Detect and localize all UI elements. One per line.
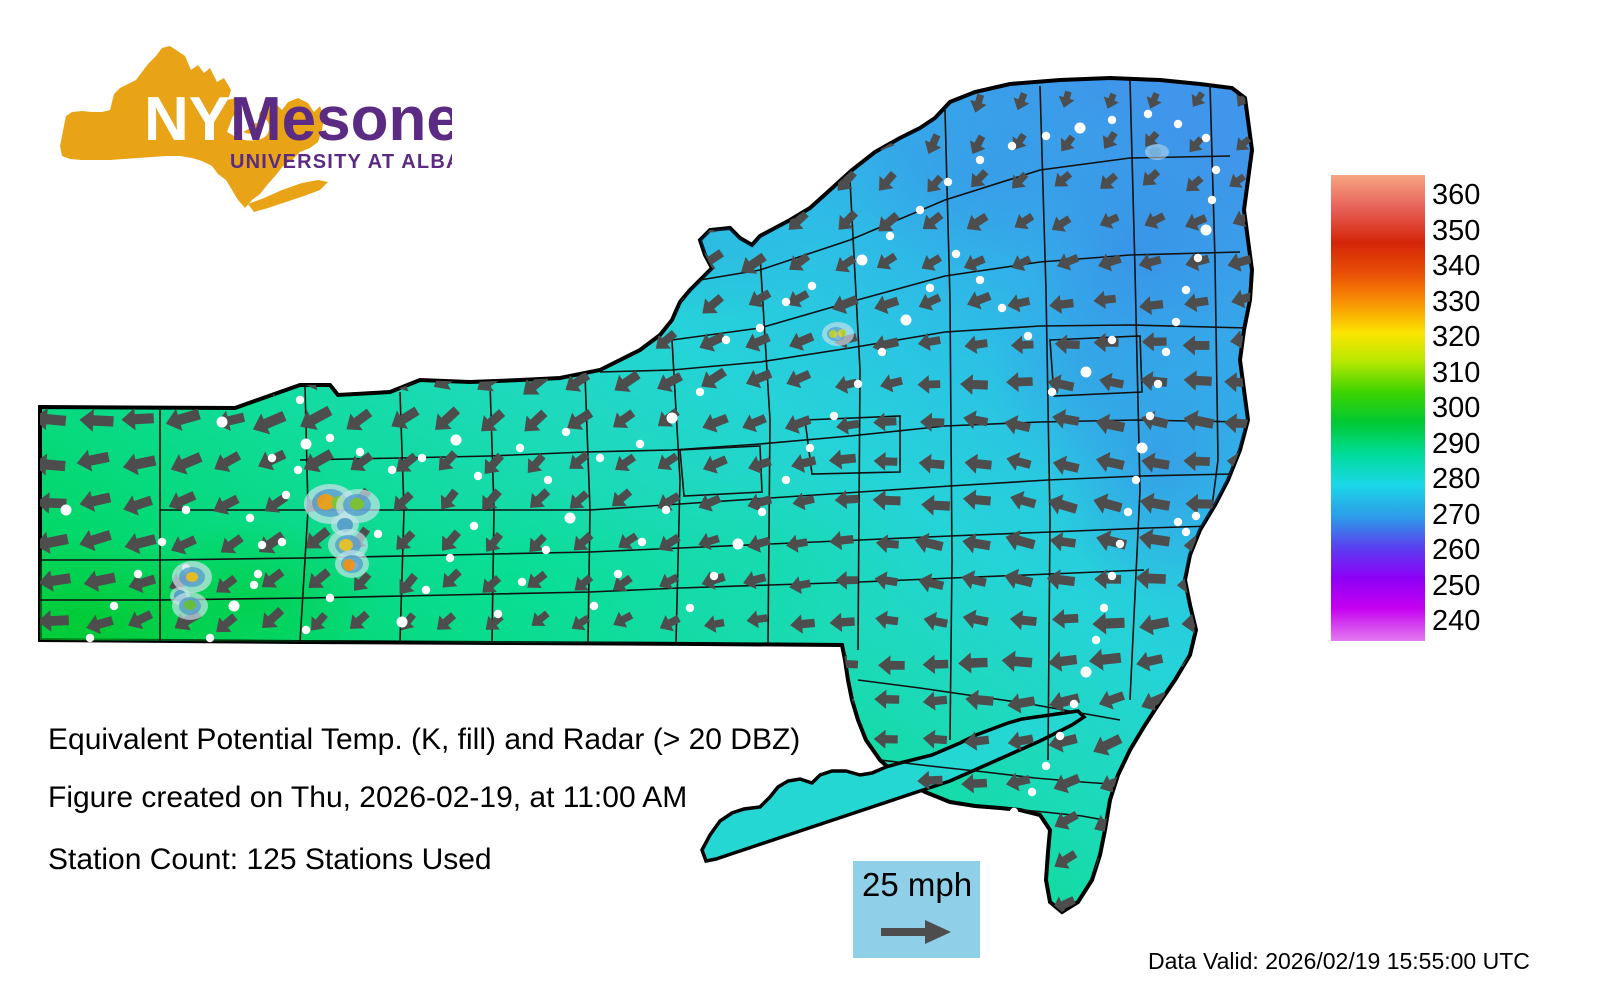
- wind-arrow: [657, 247, 684, 269]
- wind-arrow: [830, 895, 854, 914]
- colorbar-tick-330: 330: [1432, 288, 1480, 317]
- station-dot: [1048, 388, 1056, 396]
- wind-arrow: [1268, 609, 1299, 630]
- wind-arrow: [33, 207, 72, 231]
- wind-arrow: [297, 129, 332, 152]
- wind-arrow: [172, 135, 203, 158]
- wind-arrow: [1230, 727, 1257, 749]
- colorbar-tick-310: 310: [1432, 359, 1480, 388]
- wind-arrow: [165, 291, 205, 315]
- wind-arrow: [660, 892, 681, 909]
- wind-arrow: [1273, 809, 1292, 830]
- wind-arrow: [520, 211, 548, 232]
- station-dot: [470, 522, 478, 530]
- wind-arrow: [79, 168, 113, 190]
- wind-arrow: [76, 211, 113, 234]
- wind-arrow: [474, 135, 513, 159]
- station-dot: [158, 538, 166, 546]
- wind-arrow: [703, 130, 723, 152]
- wind-arrow: [129, 689, 157, 709]
- station-dot: [1286, 854, 1294, 862]
- wind-arrow: [37, 368, 74, 392]
- wind-arrow: [128, 208, 160, 231]
- station-dot: [182, 506, 190, 514]
- wind-arrow: [655, 850, 677, 868]
- wind-arrow: [519, 171, 551, 195]
- wind-arrow: [836, 128, 855, 152]
- wind-arrow: [79, 327, 117, 351]
- wind-arrow: [751, 169, 770, 191]
- station-dot: [1192, 512, 1200, 520]
- station-dot: [1118, 866, 1126, 874]
- wind-arrow: [787, 895, 812, 913]
- wind-arrow: [1277, 172, 1295, 187]
- station-dot: [1024, 332, 1032, 340]
- wind-arrow: [80, 248, 113, 269]
- wind-arrow: [212, 172, 249, 195]
- wind-arrow: [480, 253, 509, 273]
- wind-arrow: [520, 293, 550, 316]
- wind-arrow: [258, 895, 280, 913]
- station-dot: [857, 255, 868, 266]
- colorbar-tick-340: 340: [1432, 252, 1480, 281]
- wind-arrow: [34, 170, 71, 193]
- wind-arrow: [434, 93, 468, 115]
- wind-arrow: [438, 817, 458, 835]
- wind-arrow: [1222, 655, 1254, 676]
- wind-arrow: [85, 890, 111, 910]
- wind-arrow: [1095, 895, 1119, 914]
- station-dot: [1108, 336, 1116, 344]
- wind-arrow: [517, 88, 555, 112]
- wind-arrow: [1004, 851, 1031, 870]
- station-dot: [86, 634, 94, 642]
- station-dot: [326, 434, 334, 442]
- colorbar-tick-350: 350: [1432, 217, 1480, 246]
- station-dot: [516, 444, 524, 452]
- station-dot: [1146, 412, 1154, 420]
- wind-arrow: [571, 650, 591, 666]
- wind-arrow: [174, 896, 199, 915]
- wind-arrow: [745, 92, 763, 116]
- wind-arrow: [122, 126, 161, 151]
- station-dot: [1100, 604, 1108, 612]
- wind-arrow: [1188, 771, 1210, 790]
- station-dot: [1194, 254, 1202, 262]
- wind-arrow: [611, 292, 635, 312]
- wind-arrow: [173, 814, 197, 833]
- wind-arrow: [1187, 734, 1210, 754]
- wind-arrow: [1269, 454, 1302, 476]
- wind-arrow: [215, 87, 250, 112]
- station-dot: [1108, 572, 1116, 580]
- wind-arrow: [521, 251, 550, 272]
- station-dot: [562, 428, 570, 436]
- wind-arrow: [123, 329, 162, 353]
- wind-arrow: [257, 210, 290, 232]
- wind-arrow: [700, 92, 719, 115]
- station-dot: [973, 825, 984, 836]
- station-dot: [1162, 348, 1170, 356]
- station-dot: [782, 298, 790, 306]
- wind-arrow: [217, 694, 238, 710]
- station-dot: [1146, 858, 1154, 866]
- wind-arrow: [1144, 770, 1169, 789]
- wind-arrow: [658, 128, 680, 153]
- colorbar-tick-240: 240: [1432, 607, 1480, 636]
- wind-arrow: [612, 651, 632, 667]
- station-dot: [1208, 196, 1216, 204]
- station-dot: [1144, 110, 1152, 118]
- wind-arrow: [701, 654, 724, 672]
- wind-arrow: [252, 250, 286, 272]
- wind-arrow: [1277, 135, 1293, 150]
- wind-arrow: [748, 690, 772, 709]
- wind-arrow: [616, 87, 639, 111]
- station-dot: [356, 448, 364, 456]
- wind-arrow: [434, 254, 469, 276]
- station-dot: [326, 594, 334, 602]
- station-dot: [782, 476, 790, 484]
- wind-arrow: [1222, 532, 1253, 553]
- station-dot: [518, 578, 526, 586]
- figure-canvas: NYS Mesonet UNIVERSITY AT ALBANY: [0, 0, 1600, 1000]
- wind-arrow: [303, 814, 323, 831]
- wind-arrow: [169, 329, 207, 353]
- wind-arrow: [918, 815, 946, 835]
- wind-arrow: [126, 891, 151, 910]
- wind-arrow: [392, 333, 423, 354]
- colorbar-gradient: [1331, 175, 1425, 641]
- wind-arrow: [1280, 95, 1293, 110]
- station-dot: [808, 282, 816, 290]
- wind-arrow: [79, 92, 117, 119]
- wind-arrow: [610, 209, 637, 230]
- station-dot: [854, 380, 862, 388]
- station-dot: [1137, 443, 1148, 454]
- wind-arrow: [213, 370, 249, 393]
- wind-arrow: [926, 89, 943, 111]
- wind-arrow: [350, 691, 368, 706]
- station-dot: [636, 440, 644, 448]
- wind-speed-legend: 25 mph: [853, 861, 980, 958]
- wind-arrow: [40, 654, 68, 674]
- wind-arrow: [77, 370, 111, 393]
- wind-arrow: [166, 169, 203, 192]
- station-dot: [294, 466, 302, 474]
- colorbar-tick-260: 260: [1432, 536, 1480, 565]
- wind-arrow: [298, 209, 331, 230]
- wind-arrow: [393, 814, 413, 831]
- station-dot: [301, 439, 312, 450]
- station-dot: [565, 513, 576, 524]
- wind-arrow: [1268, 571, 1299, 592]
- wind-arrow: [570, 331, 596, 353]
- wind-arrow: [1267, 530, 1297, 551]
- wind-arrow: [1188, 890, 1208, 909]
- wind-arrow: [614, 167, 638, 188]
- station-dot: [1226, 872, 1234, 880]
- station-dot: [806, 444, 814, 452]
- station-dot: [1182, 528, 1190, 536]
- station-dot: [638, 538, 646, 546]
- wind-arrow: [37, 89, 74, 112]
- station-dot: [134, 570, 142, 578]
- caption-title: Equivalent Potential Temp. (K, fill) and…: [48, 723, 800, 757]
- wind-arrow: [1271, 371, 1301, 392]
- station-dot: [758, 508, 766, 516]
- wind-arrow: [566, 897, 589, 914]
- wind-arrow: [1232, 815, 1252, 832]
- station-dot: [1008, 142, 1016, 150]
- colorbar-tick-270: 270: [1432, 501, 1480, 530]
- wind-arrow: [298, 167, 332, 189]
- wind-arrow: [256, 91, 295, 116]
- radar-cell-st-lawrence: [822, 322, 854, 346]
- wind-arrow: [121, 293, 153, 315]
- wind-arrow: [432, 169, 465, 191]
- wind-arrow: [1185, 696, 1211, 715]
- station-dot: [278, 538, 286, 546]
- colorbar-tick-290: 290: [1432, 430, 1480, 459]
- wind-arrow: [571, 812, 592, 829]
- wind-arrow: [481, 694, 501, 710]
- wind-arrow: [475, 171, 509, 193]
- station-dot: [662, 506, 670, 514]
- wind-arrow: [523, 134, 555, 156]
- wind-arrow: [790, 86, 809, 111]
- wind-arrow: [36, 126, 75, 151]
- wind-arrow: [298, 88, 334, 111]
- wind-arrow: [1140, 728, 1169, 750]
- wind-arrow: [566, 88, 599, 113]
- wind-arrow: [310, 690, 329, 706]
- station-dot: [61, 505, 72, 516]
- station-dot: [1212, 166, 1220, 174]
- wind-arrow: [564, 170, 593, 193]
- wind-arrow: [124, 370, 156, 392]
- wind-arrow: [477, 92, 513, 115]
- station-dot: [217, 417, 228, 428]
- station-dot: [542, 546, 550, 554]
- wind-arrow: [742, 773, 765, 791]
- wind-arrow: [653, 212, 679, 233]
- wind-arrow: [35, 328, 68, 350]
- wind-arrow: [790, 651, 813, 670]
- station-dot: [1108, 116, 1116, 124]
- wind-arrow: [169, 91, 201, 114]
- wind-arrow: [306, 651, 324, 667]
- station-dot: [1116, 540, 1124, 548]
- station-dot: [494, 610, 502, 618]
- wind-arrow: [341, 89, 381, 113]
- wind-arrow: [127, 815, 151, 834]
- station-dot: [998, 304, 1006, 312]
- data-valid-timestamp: Data Valid: 2026/02/19 15:55:00 UTC: [1148, 948, 1530, 975]
- wind-arrow: [749, 210, 770, 230]
- colorbar-tick-360: 360: [1432, 181, 1480, 210]
- station-dot: [1042, 132, 1050, 140]
- wind-arrow: [1229, 895, 1249, 913]
- station-dot: [696, 388, 704, 396]
- station-dot: [1081, 667, 1092, 678]
- wind-arrow: [1267, 491, 1301, 513]
- wind-arrow: [221, 651, 242, 668]
- wind-arrow: [1280, 889, 1297, 908]
- wind-arrow: [1270, 649, 1301, 671]
- wind-arrow: [615, 695, 634, 712]
- wind-arrow: [347, 329, 381, 351]
- station-dot: [374, 530, 382, 538]
- wind-arrow: [1144, 814, 1165, 832]
- station-dot: [590, 602, 598, 610]
- wind-arrow: [747, 856, 770, 874]
- station-dot: [956, 832, 964, 840]
- station-dot: [830, 412, 838, 420]
- wind-arrow: [1271, 250, 1292, 267]
- wind-arrow: [385, 292, 421, 315]
- wind-arrow: [124, 172, 161, 198]
- wind-arrow: [212, 210, 248, 232]
- station-dot: [446, 554, 454, 562]
- station-dot: [1070, 700, 1078, 708]
- wind-arrow: [393, 653, 410, 671]
- wind-arrow: [215, 250, 248, 272]
- wind-arrow: [253, 288, 293, 313]
- wind-arrow: [439, 896, 460, 913]
- wind-arrow: [793, 170, 813, 192]
- wind-arrow: [1272, 332, 1297, 351]
- wind-arrow: [385, 212, 423, 236]
- station-dot: [1172, 870, 1180, 878]
- station-dot: [282, 491, 290, 499]
- wind-arrow: [396, 694, 413, 709]
- station-dot: [686, 604, 694, 612]
- wind-arrow: [572, 691, 593, 708]
- station-dot: [722, 336, 730, 344]
- wind-arrow: [1274, 692, 1300, 714]
- station-dot: [1316, 860, 1320, 868]
- wind-arrow: [343, 129, 379, 152]
- caption-station-count: Station Count: 125 Stations Used: [48, 843, 492, 877]
- station-dot: [992, 818, 1000, 826]
- wind-arrow: [1223, 570, 1253, 590]
- station-dot: [667, 413, 678, 424]
- wind-arrow: [656, 694, 679, 712]
- wind-arrow: [475, 288, 508, 313]
- station-dot: [1124, 508, 1132, 516]
- station-dot: [388, 466, 396, 474]
- station-dot: [206, 634, 214, 642]
- colorbar-tick-labels: 360350340330320310300290280270260250240: [1432, 175, 1552, 645]
- wind-arrow: [79, 133, 112, 154]
- station-dot: [878, 348, 886, 356]
- wind-arrow: [784, 850, 811, 870]
- wind-arrow: [703, 690, 724, 708]
- wind-arrow: [526, 656, 544, 671]
- station-dot: [1042, 762, 1050, 770]
- wind-arrow: [212, 291, 249, 315]
- wind-arrow: [569, 129, 600, 152]
- wind-arrow: [165, 248, 204, 272]
- wind-arrow: [484, 652, 502, 667]
- wind-arrow: [838, 89, 855, 111]
- station-dot: [976, 276, 984, 284]
- wind-arrow: [431, 293, 465, 315]
- wind-arrow: [170, 695, 195, 713]
- station-dot: [614, 570, 622, 578]
- wind-arrow: [427, 133, 467, 158]
- caption-created: Figure created on Thu, 2026-02-19, at 11…: [48, 781, 687, 815]
- wind-arrow: [567, 294, 594, 315]
- colorbar-tick-320: 320: [1432, 323, 1480, 352]
- station-dot: [1200, 862, 1208, 870]
- wind-arrow: [33, 251, 68, 273]
- station-dot: [1010, 808, 1018, 816]
- wind-arrow: [480, 334, 506, 354]
- wind-arrow: [833, 735, 859, 755]
- wind-arrow: [525, 695, 543, 710]
- wind-arrow: [567, 207, 598, 232]
- wind-arrow: [790, 126, 809, 151]
- colorbar: [1331, 175, 1425, 641]
- wind-arrow: [81, 292, 115, 314]
- station-dot: [756, 324, 764, 332]
- station-dot: [1132, 476, 1140, 484]
- wind-arrow: [265, 651, 284, 669]
- station-dot: [1075, 123, 1086, 134]
- station-dot: [422, 586, 430, 594]
- station-dot: [1028, 788, 1036, 796]
- station-dot: [944, 178, 952, 186]
- wind-arrow: [1230, 772, 1250, 791]
- station-dot: [397, 617, 408, 628]
- wind-arrow: [523, 330, 550, 351]
- wind-arrow: [1235, 849, 1254, 866]
- wind-arrow: [569, 856, 593, 874]
- station-dot: [952, 250, 960, 258]
- wind-arrow: [829, 853, 853, 872]
- station-dot: [1201, 225, 1212, 236]
- wind-arrow: [172, 652, 198, 672]
- wind-arrow: [38, 891, 65, 911]
- station-dot: [229, 601, 240, 612]
- station-dot: [886, 232, 894, 240]
- wind-arrow: [702, 773, 725, 792]
- colorbar-tick-300: 300: [1432, 394, 1480, 423]
- wind-arrow: [437, 653, 455, 669]
- wind-arrow: [655, 166, 679, 192]
- wind-legend-label: 25 mph: [862, 866, 972, 904]
- station-dot: [1206, 544, 1214, 552]
- wind-arrow: [128, 654, 154, 673]
- station-dot: [1174, 120, 1182, 128]
- wind-arrow: [791, 693, 816, 712]
- station-dot: [901, 315, 912, 326]
- wind-arrow: [1185, 812, 1206, 834]
- wind-arrow: [1271, 767, 1295, 788]
- wind-arrow: [526, 896, 548, 913]
- wind-arrow: [744, 128, 764, 154]
- wind-arrow: [85, 695, 110, 714]
- wind-arrow: [253, 333, 289, 356]
- station-dot: [302, 626, 310, 634]
- wind-arrow: [339, 208, 377, 232]
- station-dot: [250, 581, 258, 589]
- station-dot: [1182, 286, 1190, 294]
- wind-arrow: [256, 173, 292, 198]
- wind-arrow: [614, 851, 636, 869]
